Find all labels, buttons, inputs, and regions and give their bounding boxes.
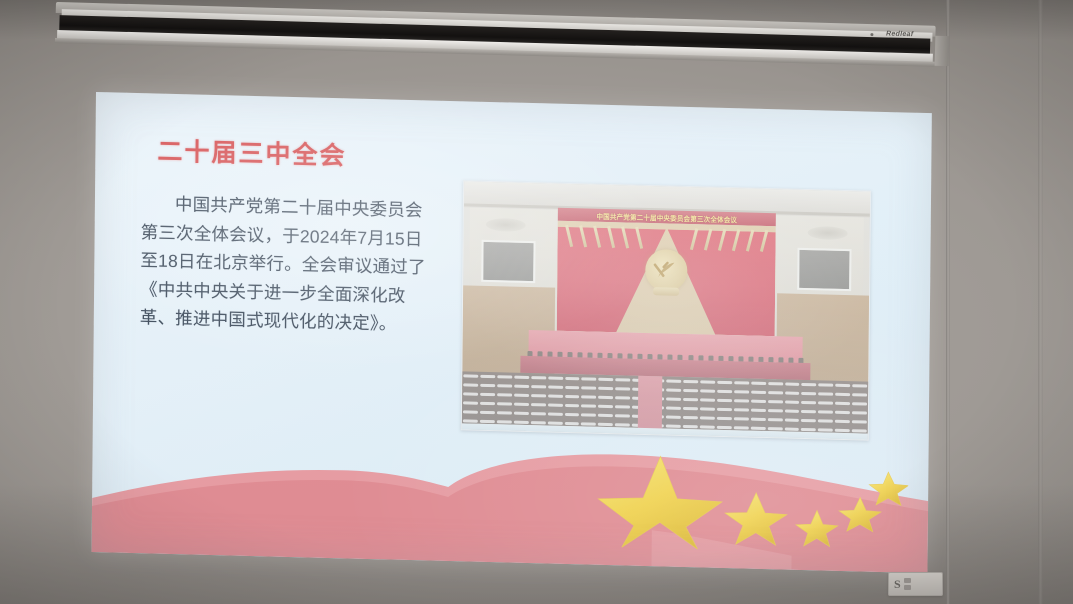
screen-brand-label: Redleaf xyxy=(886,30,914,38)
star-small-3 xyxy=(839,497,881,532)
photo-stage-backdrop xyxy=(557,221,776,337)
photo-wall-vent-left xyxy=(481,240,535,283)
housing-mount-bracket xyxy=(935,36,950,66)
photo-wall-vent-right xyxy=(797,248,851,291)
star-large xyxy=(598,455,723,550)
five-star-motif xyxy=(588,447,909,555)
photo-center-aisle-carpet xyxy=(638,376,663,433)
star-small-2 xyxy=(796,510,838,547)
brand-dot-icon xyxy=(870,33,873,36)
slide-canvas: 二十届三中全会 中国共产党第二十届中央委员会第三次全体会议，于2024年7月15… xyxy=(92,92,932,573)
photo-emblem-base xyxy=(653,287,679,296)
hammer-and-sickle-icon xyxy=(645,249,687,292)
wall-seam xyxy=(1038,0,1043,604)
star-small-1 xyxy=(725,492,787,546)
plate-logo: S xyxy=(894,578,901,590)
wall-seam xyxy=(946,0,950,604)
classroom-scene: Redleaf 二十届三中全会 中国共产党第二十届中央委员会第三次全体会议，于2… xyxy=(0,0,1073,604)
slide-title: 二十届三中全会 xyxy=(157,132,346,173)
conference-hall-photo: 中国共产党第二十届中央委员会第三次全体会议 xyxy=(461,180,871,440)
star-small-4 xyxy=(869,472,908,506)
plate-marks-icon xyxy=(904,578,911,590)
wall-mounted-plate[interactable]: S xyxy=(888,572,943,596)
slide-body-text: 中国共产党第二十届中央委员会第三次全体会议，于2024年7月15日至18日在北京… xyxy=(140,189,427,339)
projected-slide[interactable]: 二十届三中全会 中国共产党第二十届中央委员会第三次全体会议，于2024年7月15… xyxy=(92,92,932,573)
